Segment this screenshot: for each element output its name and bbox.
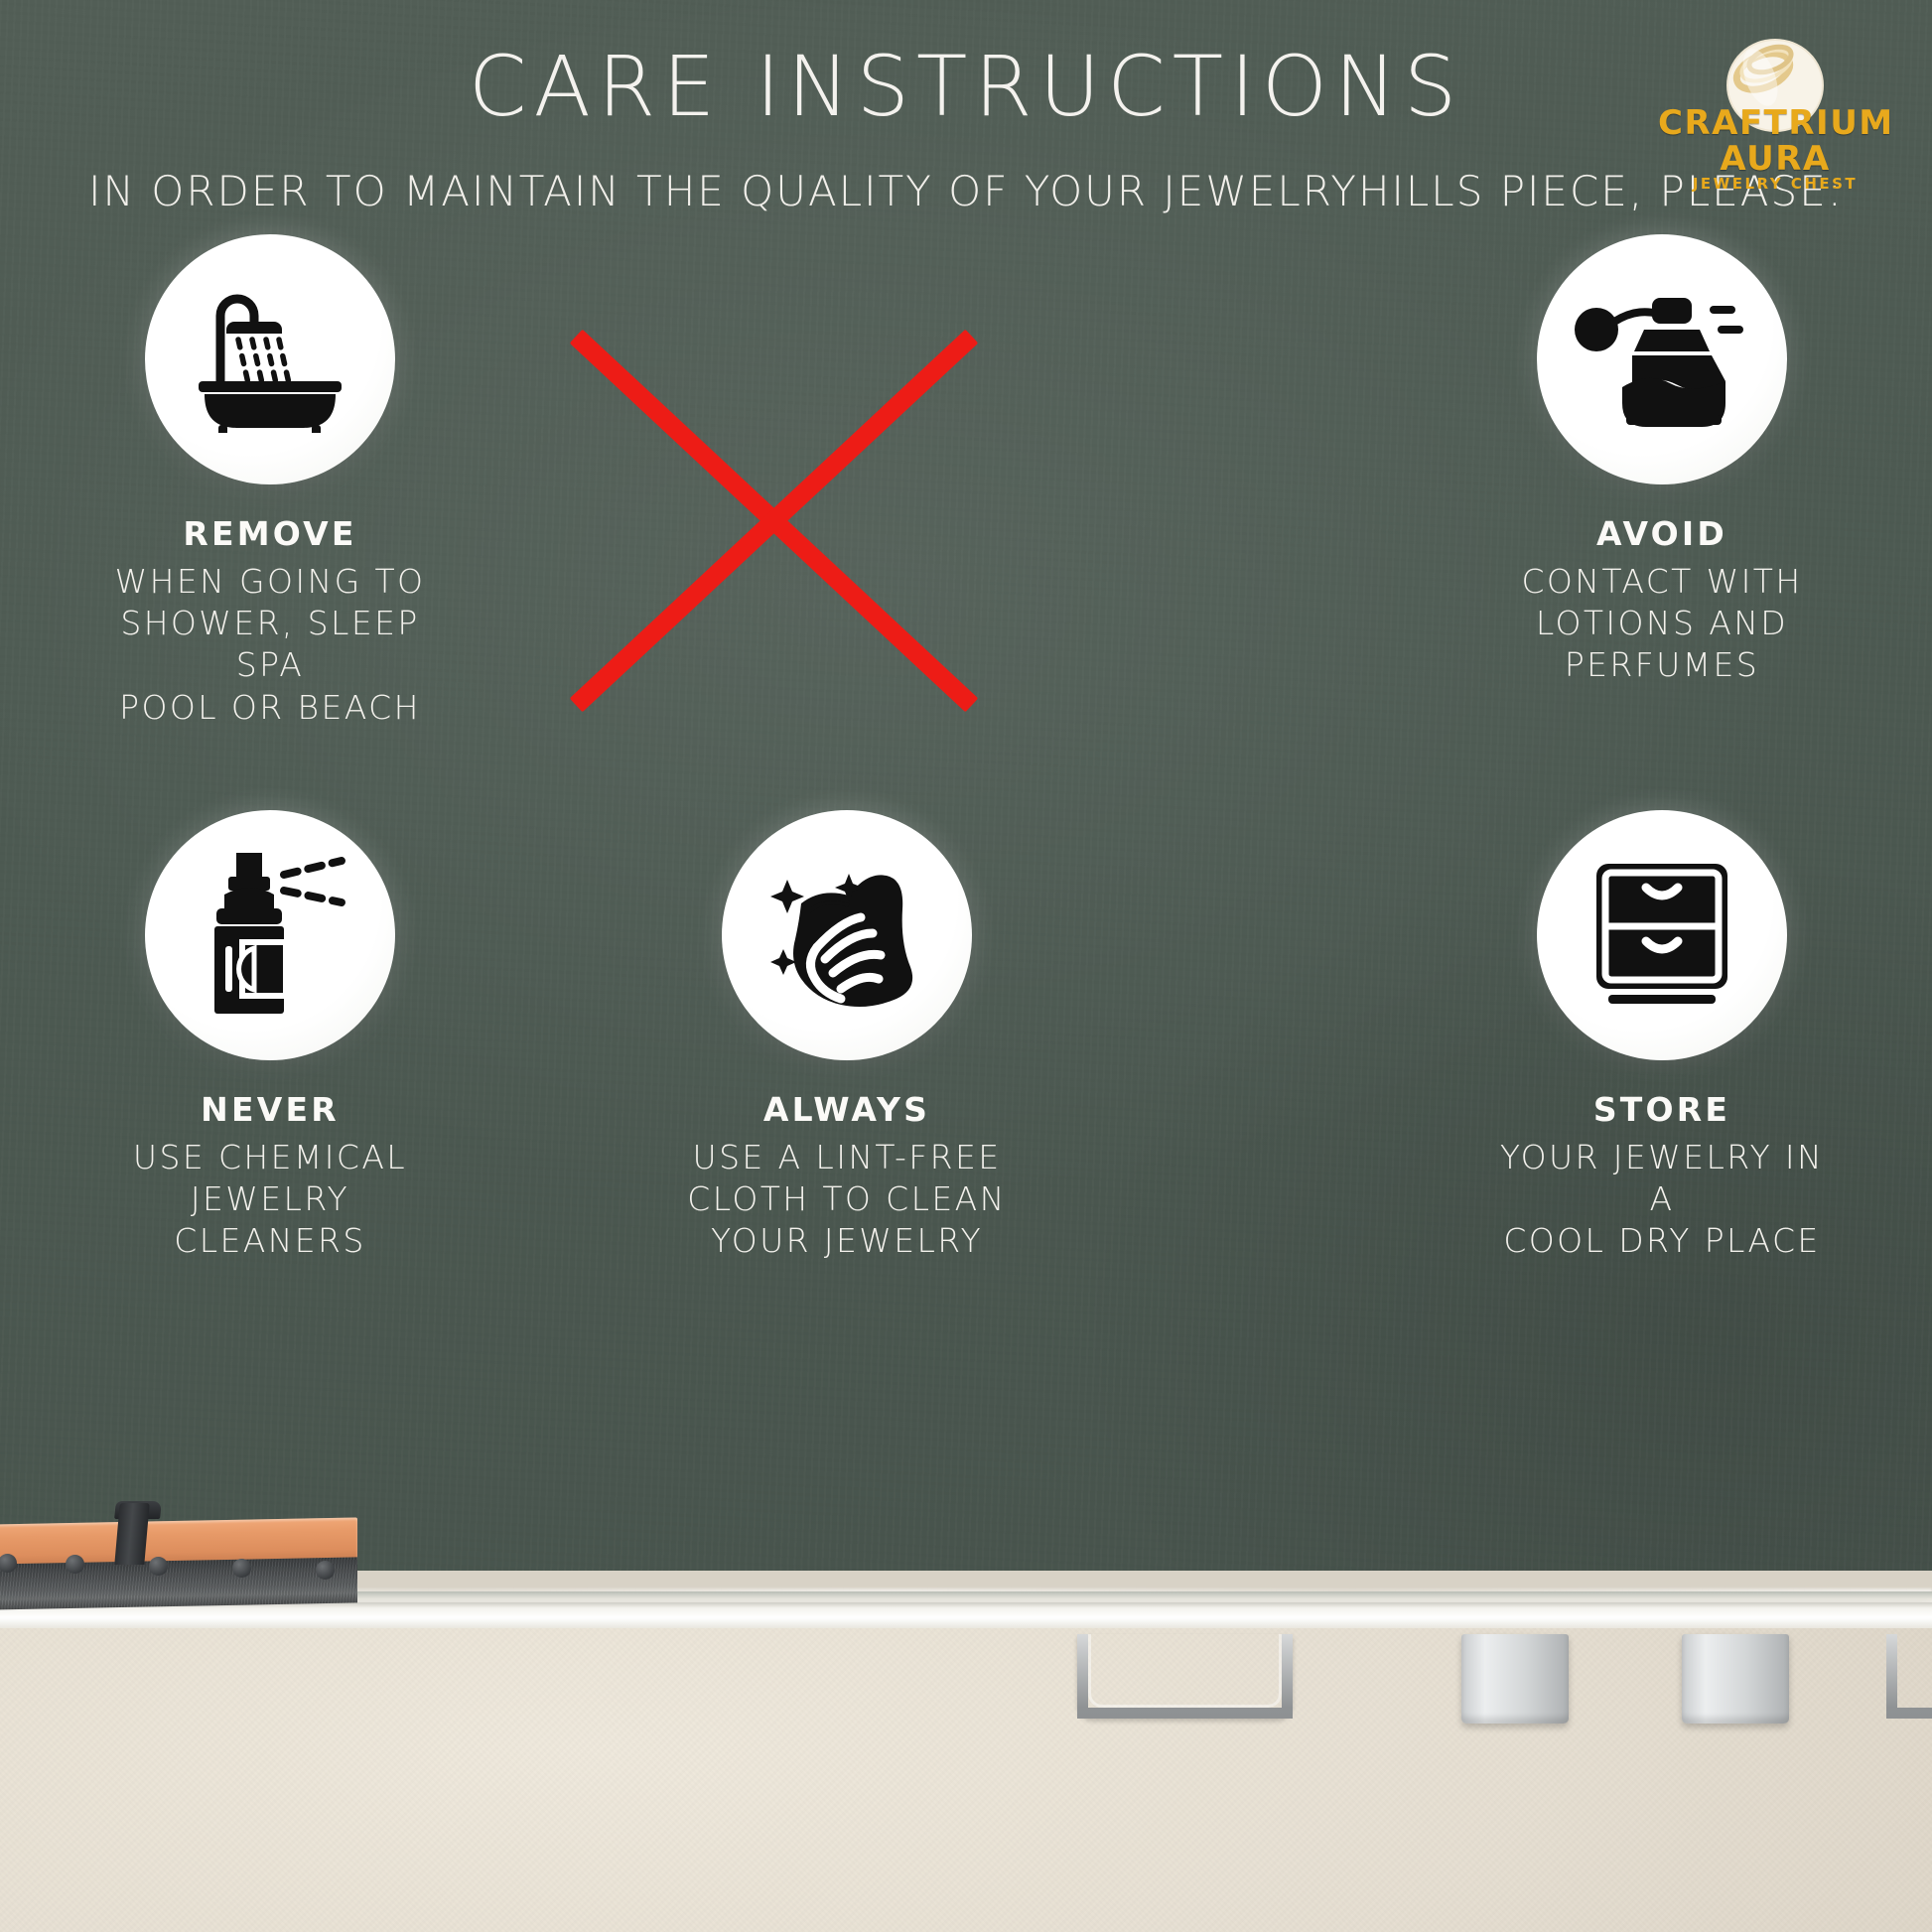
icon-badge [1537,810,1787,1060]
chalkboard-eraser [0,1521,357,1608]
page-subtitle: IN ORDER TO MAINTAIN THE QUALITY OF YOUR… [0,165,1932,218]
eraser-stud [149,1557,168,1576]
page-title: CARE INSTRUCTIONS [0,38,1932,135]
care-item-avoid-lotions: AVOID CONTACT WITH LOTIONS AND PERFUMES [1483,234,1841,687]
eraser-leather-strap [114,1503,149,1565]
icon-badge [722,810,972,1060]
icon-badge [145,234,395,484]
metal-handle [1077,1634,1293,1719]
care-item-body: USE A LINT-FREE CLOTH TO CLEAN YOUR JEWE… [668,1137,1026,1263]
care-item-heading: STORE [1483,1090,1841,1129]
care-item-never-chemicals: NEVER USE CHEMICAL JEWELRY CLEANERS [91,810,449,1263]
logo-tagline: JEWELRY CHEST [1658,175,1892,193]
drawer-cabinet-icon [1579,850,1745,1022]
care-item-body: USE CHEMICAL JEWELRY CLEANERS [91,1137,449,1263]
care-item-heading: ALWAYS [668,1090,1026,1129]
metal-clip [1682,1634,1789,1724]
eraser-stud [316,1561,335,1580]
care-item-store-cool-dry: STORE YOUR JEWELRY IN A COOL DRY PLACE [1483,810,1841,1263]
care-item-heading: NEVER [91,1090,449,1129]
care-item-always-cloth: ALWAYS USE A LINT-FREE CLOTH TO CLEAN YO… [668,810,1026,1263]
icon-badge [145,810,395,1060]
logo-name-line2: AURA [1658,139,1892,179]
metal-handle-highlight [1088,1634,1282,1708]
perfume-bottle-icon [1575,282,1749,438]
eraser-stud [66,1555,84,1574]
spray-can-icon [185,849,355,1023]
eraser-stud [232,1559,251,1578]
icon-badge [1537,234,1787,484]
care-item-body: CONTACT WITH LOTIONS AND PERFUMES [1483,561,1841,687]
care-instructions-poster: CARE INSTRUCTIONS IN ORDER TO MAINTAIN T… [0,0,1932,1932]
care-item-heading: AVOID [1483,514,1841,553]
brand-logo: CRAFTRIUM AURA JEWELRY CHEST [1658,24,1892,199]
wall-background [0,1628,1932,1932]
logo-name-line1: CRAFTRIUM [1658,103,1892,143]
polishing-cloth-hand-icon [759,850,934,1022]
care-item-body: YOUR JEWELRY IN A COOL DRY PLACE [1483,1137,1841,1263]
bathtub-shower-icon [187,282,353,438]
metal-handle [1886,1634,1932,1719]
care-item-remove-shower: REMOVE WHEN GOING TO SHOWER, SLEEP SPA P… [91,234,449,729]
eraser-felt-pad [0,1557,357,1609]
metal-clip [1461,1634,1569,1724]
care-item-body: WHEN GOING TO SHOWER, SLEEP SPA POOL OR … [91,561,449,729]
care-item-heading: REMOVE [91,514,449,553]
